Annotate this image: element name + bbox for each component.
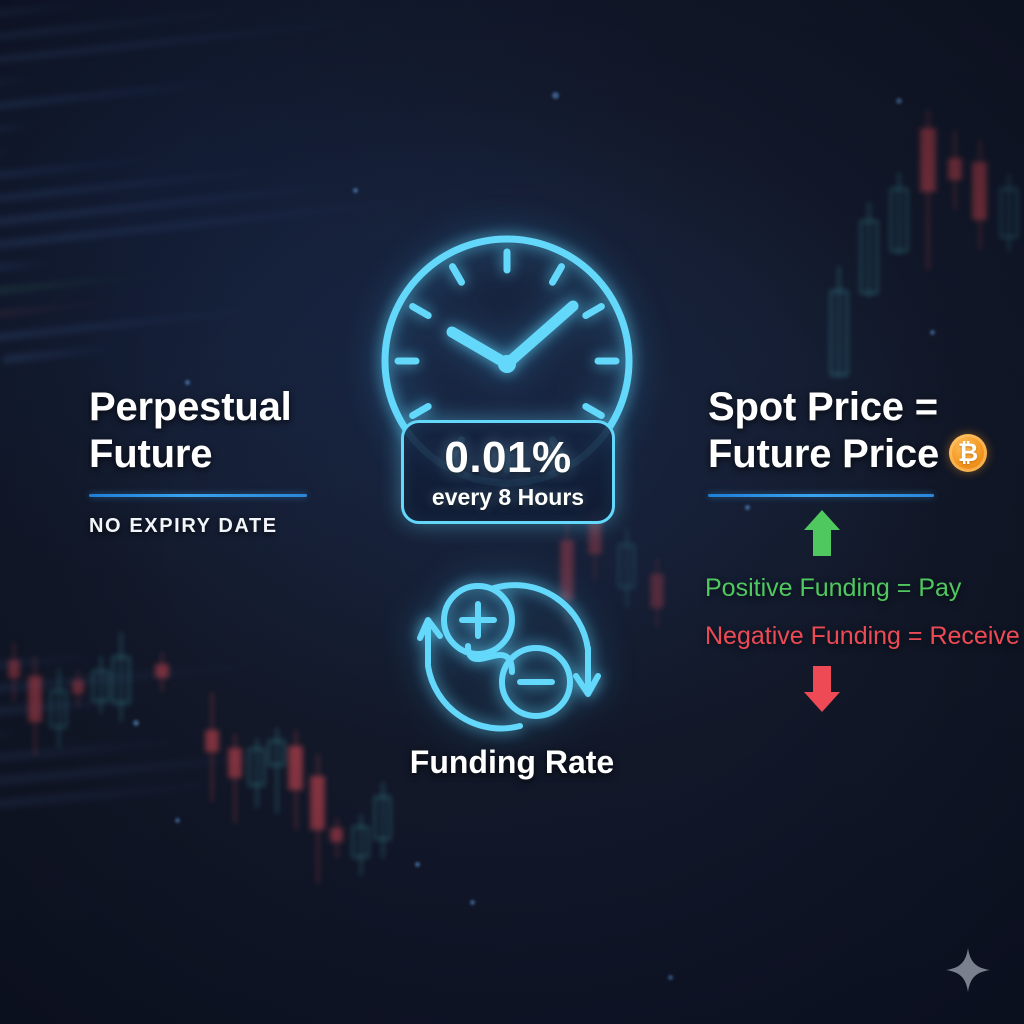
particle-dot [415,862,420,867]
particle-dot [175,818,180,823]
funding-rate-label: Funding Rate [0,744,1024,781]
infographic-canvas: Perpestual Future NO EXPIRY DATE Spot Pr… [0,0,1024,1024]
spot-price-headline-line1: Spot Price = [708,384,1018,431]
spot-price-headline-line2: Future Price₿ [708,431,1018,478]
particle-dot [745,505,750,510]
perpetual-future-headline-line1: Perpestual [89,384,389,431]
particle-dot [353,188,358,193]
perpetual-future-headline-line2: Future [89,431,389,478]
funding-rate-value: 0.01% [444,435,571,481]
particle-dot [133,720,139,726]
right-divider [708,494,934,497]
no-expiry-date-label: NO EXPIRY DATE [89,515,389,538]
particle-dot [930,330,935,335]
left-divider [89,494,307,497]
arrow-down-icon [800,662,844,721]
background-candlestick-chart-upper-right [820,100,1024,420]
perpetual-future-block: Perpestual Future NO EXPIRY DATE [89,384,389,538]
sparkle-icon [944,946,992,994]
arrow-up-icon [800,506,844,565]
spot-price-headline-line2-text: Future Price [708,432,939,476]
particle-dot [470,900,475,905]
positive-funding-text: Positive Funding = Pay [705,574,961,603]
negative-funding-text: Negative Funding = Receive [705,622,1020,651]
funding-rate-cycle-icon [408,576,608,741]
bitcoin-coin-icon: ₿ [949,434,987,472]
funding-rate-badge: 0.01% every 8 Hours [401,420,615,524]
particle-dot [668,975,673,980]
particle-dot [552,92,559,99]
background-code-text-bottom-left [0,612,417,1024]
bitcoin-symbol: ₿ [949,434,987,472]
funding-rate-period: every 8 Hours [432,484,584,510]
particle-dot [896,98,902,104]
spot-price-block: Spot Price = Future Price₿ [708,384,1018,497]
